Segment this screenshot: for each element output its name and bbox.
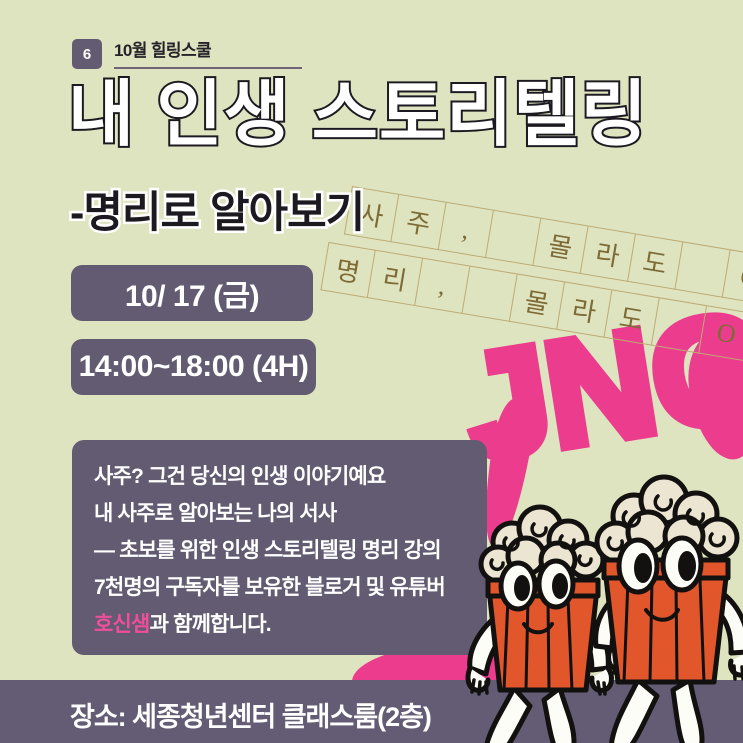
manuscript-cell: 도 (628, 235, 683, 290)
description-line: 사주? 그건 당신의 인생 이야기예요 (94, 458, 487, 495)
manuscript-cell: 몰 (510, 275, 565, 330)
manuscript-cell: 주 (391, 195, 446, 250)
program-label: 10월 힐링스쿨 (114, 36, 302, 65)
manuscript-cell (675, 242, 730, 297)
manuscript-cell: 명 (320, 243, 375, 298)
instructor-name: 호신샘 (94, 613, 150, 636)
page-subtitle: -명리로 알아보기 (70, 178, 364, 240)
poster-header: 6 10월 힐링스쿨 (72, 36, 302, 69)
manuscript-cell: 라 (581, 227, 636, 282)
event-poster: JNG 6 10월 힐링스쿨 내 인생 스토리텔링 -명리로 알아보기 사주,몰… (0, 0, 743, 743)
manuscript-cell: 도 (604, 290, 659, 345)
description-card: 사주? 그건 당신의 인생 이야기예요 내 사주로 알아보는 나의 서사 — 초… (72, 440, 487, 655)
instructor-suffix: 과 함께합니다. (150, 613, 271, 636)
program-label-wrap: 10월 힐링스쿨 (114, 36, 302, 69)
manuscript-cell: 리 (368, 251, 423, 306)
page-title: 내 인생 스토리텔링 (68, 78, 648, 154)
event-time-badge: 14:00~18:00 (4H) (71, 339, 316, 395)
event-date-badge: 10/ 17 (금) (71, 265, 313, 321)
manuscript-cell (462, 267, 517, 322)
manuscript-cell: , (415, 259, 470, 314)
description-line: 내 사주로 알아보는 나의 서사 (94, 495, 487, 532)
manuscript-cell: , (439, 203, 494, 258)
manuscript-cell: 라 (557, 282, 612, 337)
description-line: 7천명의 구독자를 보유한 블로거 및 유튜버 (94, 569, 487, 606)
session-number-badge: 6 (72, 39, 102, 69)
manuscript-cell (486, 211, 541, 266)
description-line-instructor: 호신샘과 함께합니다. (94, 606, 487, 643)
description-line: — 초보를 위한 인생 스토리텔링 명리 강의 (94, 532, 487, 569)
popcorn-mascot-large-icon (576, 468, 743, 743)
manuscript-cell: 몰 (533, 219, 588, 274)
manuscript-cell: O (699, 306, 743, 361)
manuscript-cell (652, 298, 707, 353)
location-text: 장소: 세종청년센터 클래스룸(2층) (70, 695, 431, 734)
